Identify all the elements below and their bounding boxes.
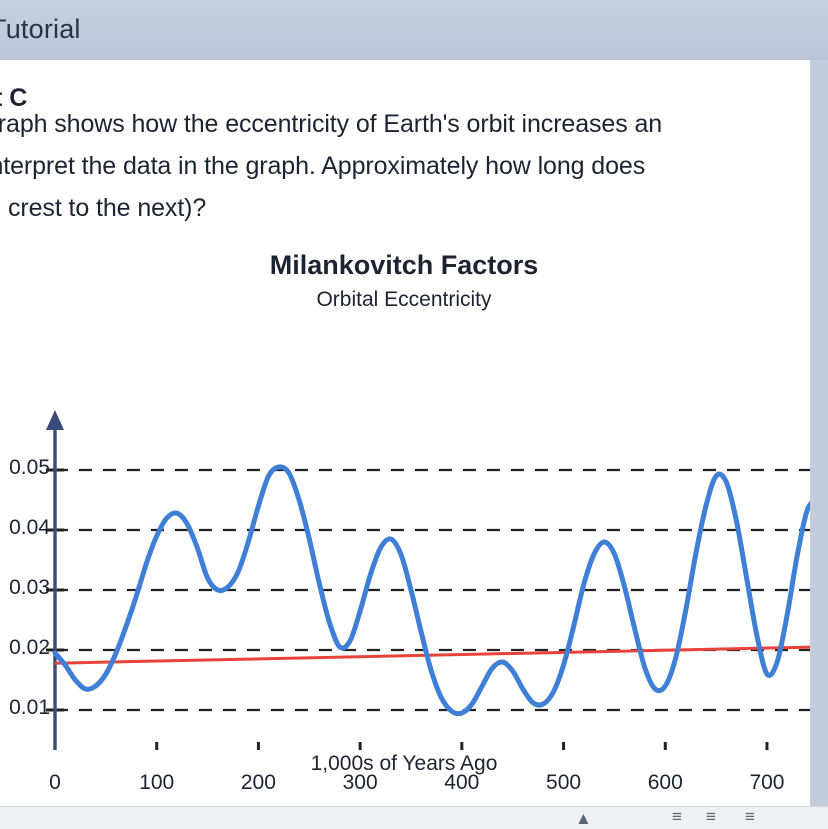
x-axis-title: 1,000s of Years Ago: [0, 752, 818, 776]
page-right-margin: [810, 60, 828, 808]
caret-up-icon[interactable]: ▲: [575, 809, 592, 829]
bottom-toolbar: ▲ ≡ ≡ ≡: [0, 806, 828, 829]
tutorial-title: Tutorial: [0, 14, 81, 45]
list-icon[interactable]: ≡: [745, 807, 755, 827]
average-line: [55, 647, 818, 663]
y-tick-label: 0.01: [0, 696, 50, 720]
chart: Milankovitch Factors Orbital Eccentricit…: [0, 60, 828, 808]
y-tick-label: 0.03: [0, 576, 50, 600]
eccentricity-line-chart: [0, 350, 828, 750]
worksheet-page: t C graph shows how the eccentricity of …: [0, 60, 828, 808]
top-bar-background: [0, 0, 828, 60]
y-tick-label: 0.04: [0, 516, 50, 540]
browser-top-bar: Tutorial: [0, 0, 828, 60]
y-tick-label: 0.05: [0, 456, 50, 480]
chart-title: Milankovitch Factors: [0, 250, 818, 281]
list-bullet-icon[interactable]: ≡: [672, 807, 682, 827]
y-tick-label: 0.02: [0, 636, 50, 660]
list-numbered-icon[interactable]: ≡: [706, 807, 716, 827]
plot-area: 0.010.020.030.040.0501002003004005006007…: [0, 350, 828, 750]
y-axis-arrow: [46, 410, 64, 430]
chart-subtitle: Orbital Eccentricity: [0, 288, 818, 312]
